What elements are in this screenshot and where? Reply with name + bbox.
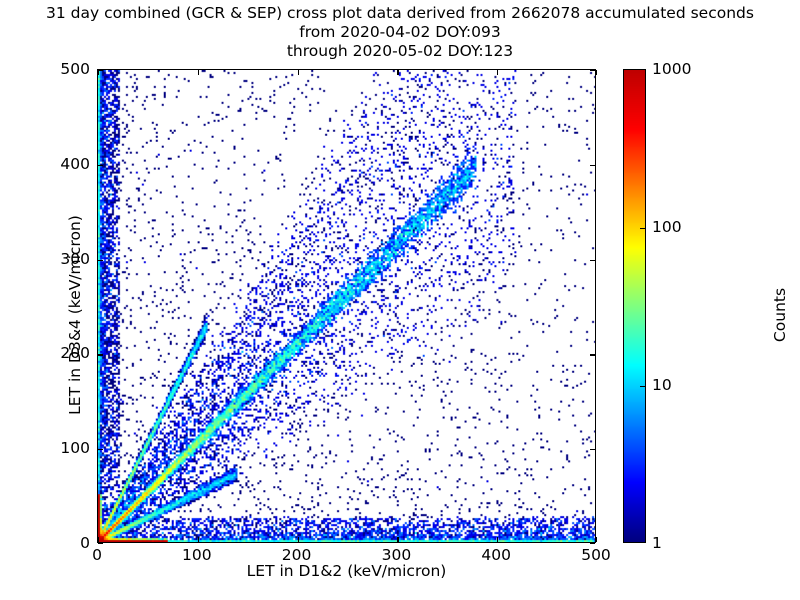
colorbar-tick <box>640 228 645 229</box>
colorbar-tick-label: 1000 <box>652 60 691 78</box>
title-line-2: from 2020-04-02 DOY:093 <box>0 23 800 42</box>
colorbar-label: Counts <box>771 145 789 485</box>
y-tick-right <box>590 543 595 544</box>
y-tick-label: 400 <box>40 155 90 173</box>
density-heatmap-canvas <box>98 70 595 542</box>
colorbar-tick-label: 1 <box>652 534 662 552</box>
y-tick-label: 300 <box>40 250 90 268</box>
colorbar <box>623 69 646 543</box>
y-axis-label: LET in D3&4 (keV/micron) <box>66 145 84 485</box>
x-tick-label: 500 <box>581 546 611 564</box>
colorbar-tick-label: 100 <box>652 218 682 236</box>
x-tick-top <box>596 70 597 75</box>
colorbar-tick <box>640 386 645 387</box>
y-tick-label: 500 <box>40 60 90 78</box>
colorbar-gradient <box>624 70 645 542</box>
y-tick-label: 100 <box>40 439 90 457</box>
x-tick-label: 100 <box>182 546 212 564</box>
x-tick <box>596 537 597 542</box>
title-line-1: 31 day combined (GCR & SEP) cross plot d… <box>0 4 800 23</box>
x-tick-label: 400 <box>481 546 511 564</box>
y-tick-label: 0 <box>40 534 90 552</box>
x-tick-label: 200 <box>282 546 312 564</box>
x-tick-label: 300 <box>382 546 412 564</box>
y-tick-label: 200 <box>40 344 90 362</box>
x-tick-label: 0 <box>92 546 102 564</box>
x-axis-label: LET in D1&2 (keV/micron) <box>97 562 596 580</box>
plot-page: 31 day combined (GCR & SEP) cross plot d… <box>0 0 800 600</box>
y-tick <box>98 543 103 544</box>
title-line-3: through 2020-05-02 DOY:123 <box>0 42 800 61</box>
plot-area <box>97 69 596 543</box>
colorbar-tick-label: 10 <box>652 376 672 394</box>
page-title: 31 day combined (GCR & SEP) cross plot d… <box>0 4 800 61</box>
